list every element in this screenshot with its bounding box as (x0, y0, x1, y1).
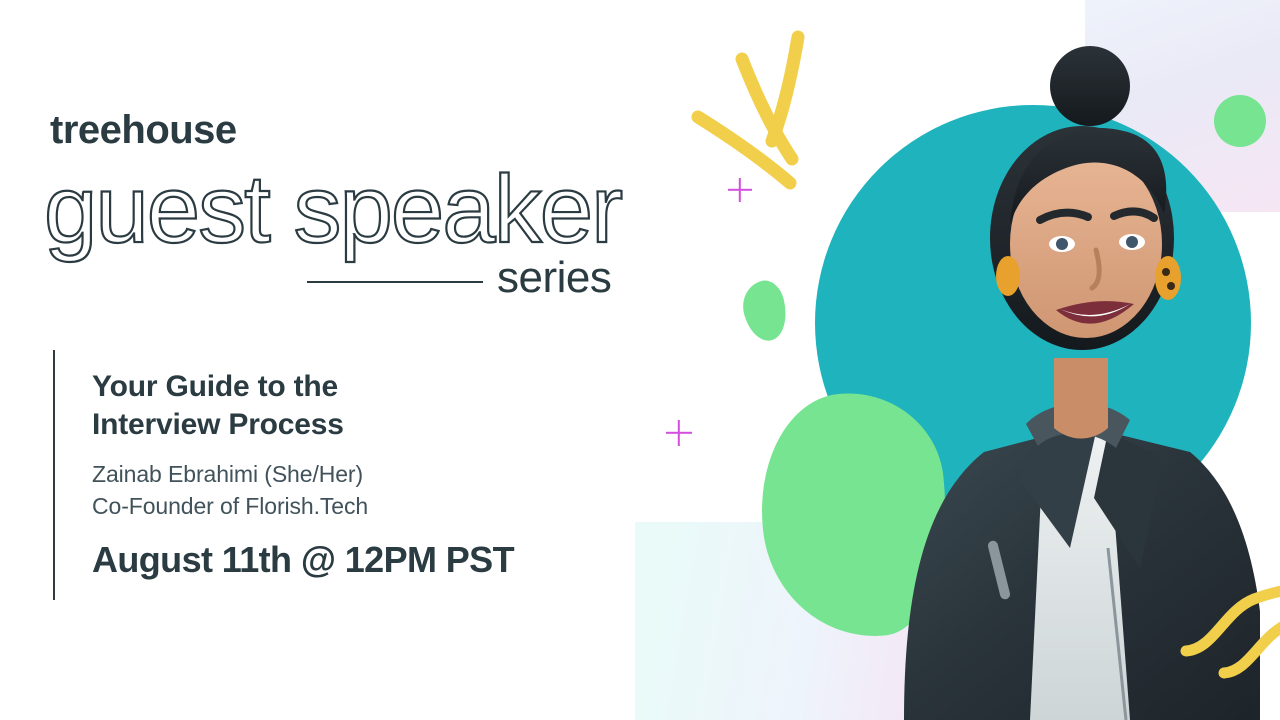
speaker-name: Zainab Ebrahimi (She/Her) (92, 459, 612, 491)
green-blob-small (737, 277, 792, 345)
event-datetime: August 11th @ 12PM PST (92, 540, 612, 580)
vertical-accent-rule (53, 350, 55, 600)
event-details: Your Guide to the Interview Process Zain… (92, 368, 612, 580)
yellow-wave-strokes (1180, 555, 1280, 685)
magenta-plus-mark (666, 420, 692, 446)
text-column: treehouse guest speaker series Your Guid… (0, 0, 660, 720)
hero-composition (640, 0, 1280, 720)
talk-title: Your Guide to the Interview Process (92, 368, 612, 445)
brand-wordmark: treehouse (50, 110, 237, 150)
headline-outline-text: guest speaker (44, 158, 644, 268)
promo-slide: treehouse guest speaker series Your Guid… (0, 0, 1280, 720)
svg-text:guest speaker: guest speaker (44, 158, 622, 263)
speaker-role: Co-Founder of Florish.Tech (92, 491, 612, 523)
yellow-sparkle-strokes (680, 25, 880, 225)
series-divider-rule (307, 281, 483, 283)
magenta-plus-mark (728, 178, 752, 202)
series-label: series (497, 256, 611, 300)
